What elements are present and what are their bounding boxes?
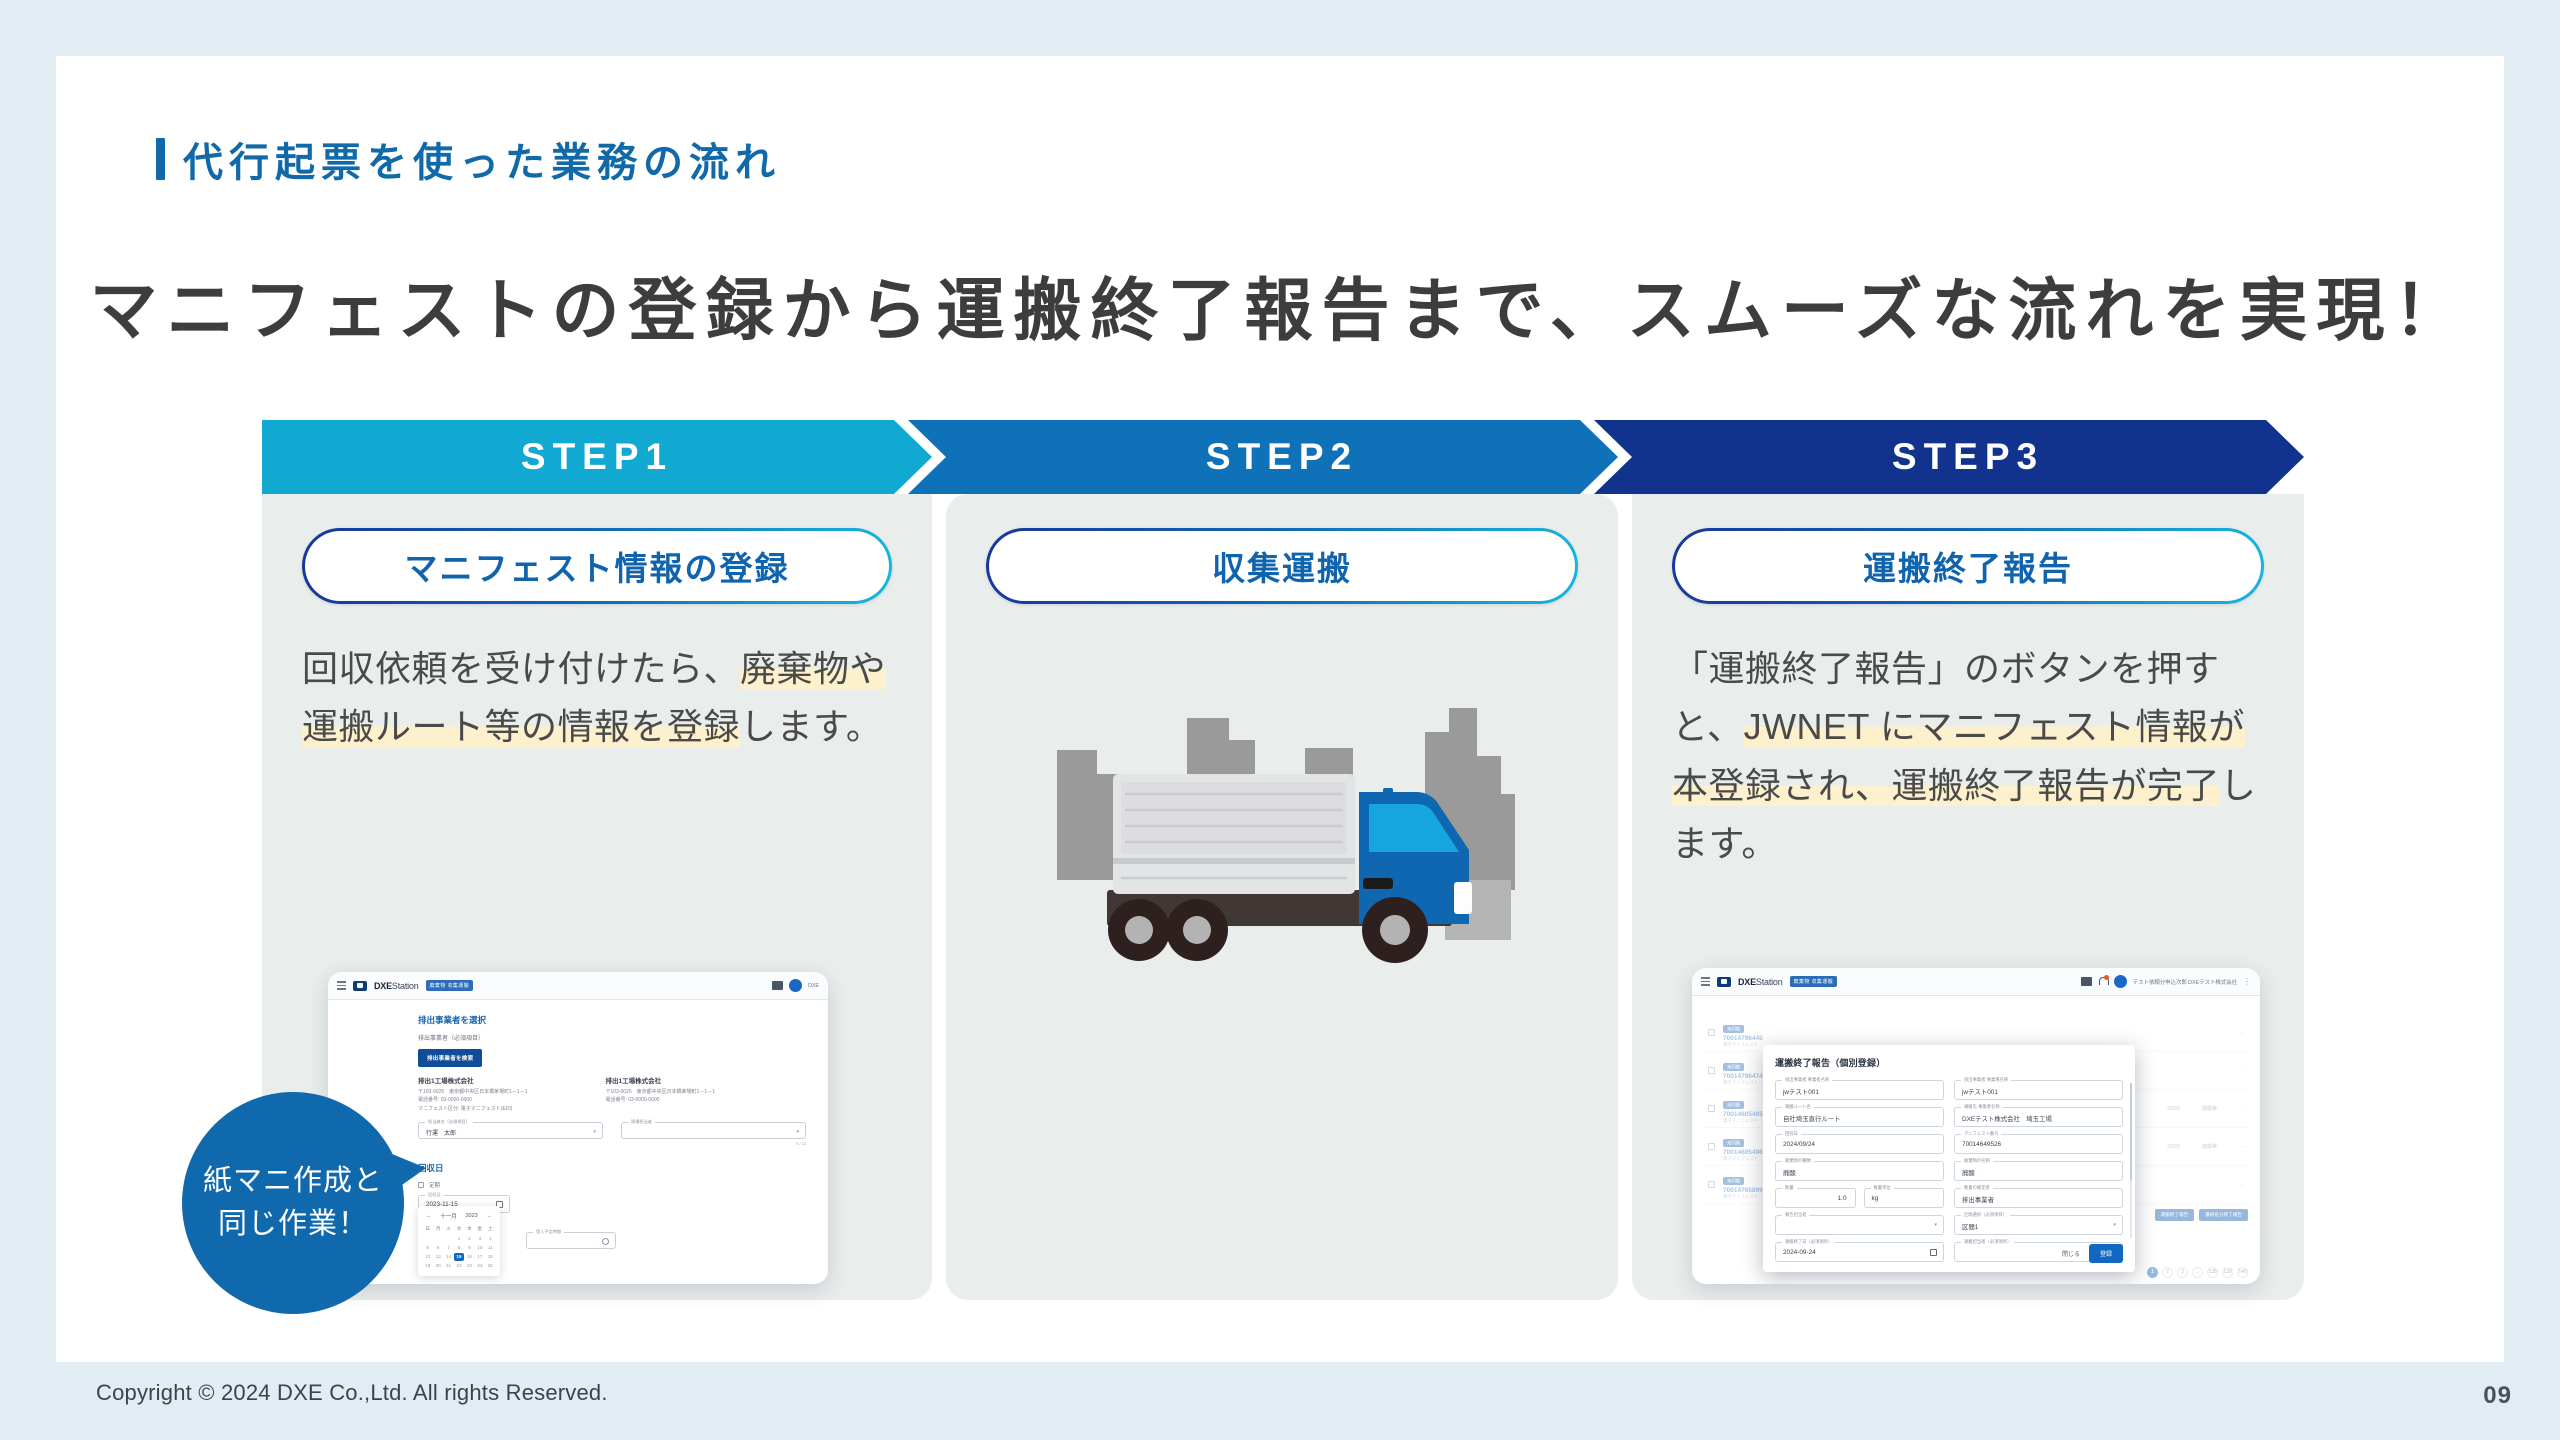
modal-unit-label: 数量単位 (1871, 1185, 1894, 1191)
modal-field[interactable]: マニフェスト番号70014649526 (1954, 1134, 2123, 1154)
modal-field-label: 運搬ルート名 (1782, 1104, 1814, 1110)
step-copy-1-plain-b: します。 (740, 706, 882, 747)
modal-qty-pair: 数量 1.0 数量単位 kg (1775, 1188, 1944, 1208)
modal-field[interactable]: 排出事業者 事業者名称jwテスト001 (1775, 1080, 1944, 1100)
step-copy-1-plain-a: 回収依頼を受け付けたら、 (302, 648, 740, 689)
checkbox-icon[interactable] (1708, 1181, 1715, 1188)
calendar-day (444, 1234, 453, 1242)
app-badge-1: 廃棄物 収集運搬 (426, 980, 474, 991)
modal-field-value: 自社埼玉直行ルート (1783, 1114, 1841, 1123)
calendar-day[interactable]: 24 (475, 1262, 484, 1270)
modal-field-confirmer[interactable]: 数量の確定者 排出事業者 (1954, 1188, 2123, 1208)
eyebrow-bar-icon (156, 138, 165, 180)
modal-field-label: 廃棄物の種類 (1782, 1158, 1814, 1164)
pagination-item[interactable]: … (2192, 1267, 2203, 1278)
calendar-day (433, 1234, 442, 1242)
calendar-prev-icon[interactable]: ← (426, 1213, 432, 1219)
bulk-action-button[interactable]: 運搬終了報告 (2155, 1209, 2195, 1221)
modal-field-value: 70014649526 (1962, 1141, 2001, 1148)
clock-icon (602, 1238, 609, 1245)
calendar-day[interactable]: 14 (444, 1253, 453, 1261)
step-pill-1[interactable]: マニフェスト情報の登録 (302, 528, 892, 604)
modal-field-unit[interactable]: 数量単位 kg (1864, 1188, 1945, 1208)
calendar-dow: 月 (433, 1224, 442, 1233)
calendar-day[interactable]: 20 (433, 1262, 442, 1270)
calendar-day[interactable]: 8 (454, 1243, 463, 1251)
shot1-field-site-label: 現場担当者 (628, 1119, 655, 1125)
step-pill-label-2: 収集運搬 (989, 531, 1575, 601)
calendar-day[interactable]: 17 (475, 1253, 484, 1261)
calendar-day[interactable]: 2 (465, 1234, 474, 1242)
calendar-day[interactable]: 21 (444, 1262, 453, 1270)
calendar-dow: 金 (475, 1224, 484, 1233)
pagination-item[interactable]: 3 (2177, 1267, 2188, 1278)
step-banner-2: STEP2 (908, 420, 1618, 494)
modal-end-value: 2024-09-24 (1783, 1249, 1816, 1256)
modal-end-label: 運搬終了日（必須項目） (1782, 1239, 1835, 1245)
calendar-dow: 土 (486, 1224, 495, 1233)
app-name-3: DXEStation (1738, 977, 1783, 987)
app-screenshot-step1: DXEStation 廃棄物 収集運搬 DXE 排出事業者を選択 排出事業者（必… (328, 972, 828, 1284)
modal-field[interactable]: 廃棄物の名称廃酸 (1954, 1161, 2123, 1181)
manifest-type: 電子マニフェスト (1723, 1118, 1763, 1124)
callout-line-2: 同じ作業！ (218, 1203, 368, 1247)
modal-field-value: 2024/09/24 (1783, 1141, 1815, 1148)
callout-line-1: 紙マニ作成と (203, 1160, 383, 1204)
calendar-day[interactable]: 4 (486, 1234, 495, 1242)
calendar-dow: 日 (423, 1224, 432, 1233)
calendar-day[interactable]: 11 (486, 1243, 495, 1251)
row-status: 廃酸等 (2202, 1143, 2217, 1150)
row-menu-icon[interactable]: ⋯ (2239, 1030, 2244, 1036)
kebab-menu-icon[interactable]: ⋮ (2243, 977, 2251, 986)
modal-qty-label: 数量 (1782, 1185, 1797, 1191)
manual-icon[interactable] (772, 981, 783, 990)
app-body-1: 排出事業者を選択 排出事業者（必須項目） 排出事業者を検索 排出1工場株式会社 … (328, 1000, 828, 1284)
modal-field-value: jwテスト001 (1783, 1087, 1819, 1096)
hamburger-icon[interactable] (337, 981, 346, 990)
callout-bubble: 紙マニ作成と 同じ作業！ (182, 1092, 404, 1314)
shot1-field-staff[interactable]: 担当者名（必須項目） 行運 太郎 ▾ (418, 1122, 603, 1139)
modal-field[interactable]: 廃棄物の種類廃酸 (1775, 1161, 1944, 1181)
chevron-down-icon: ▾ (796, 1129, 799, 1135)
shot1-date-label: 回収日 (425, 1192, 444, 1198)
modal-qty-value: 1.0 (1838, 1195, 1847, 1202)
shot1-field-site[interactable]: 現場担当者 ▾ (621, 1122, 806, 1139)
shot1-corp-left-lines: 〒103-0025 東京都中央区日本橋茅場町1－1－1 電話番号: 03-000… (418, 1088, 527, 1113)
shot1-corp-left: 排出1工場株式会社 〒103-0025 東京都中央区日本橋茅場町1－1－1 電話… (418, 1075, 527, 1113)
shot1-field-staff-value: 行運 太郎 (426, 1128, 456, 1137)
shot1-time-field[interactable]: 受入予定時間 (526, 1232, 616, 1249)
section-eyebrow: 代行起票を使った業務の流れ (156, 130, 781, 188)
shot1-calendar-popup[interactable]: ← 十一月 2023 → 日月火水木金土12345678910111213141… (418, 1206, 500, 1276)
modal-title: 運搬終了報告（個別登録） (1775, 1056, 2123, 1069)
modal-close-button[interactable]: 閉じる (2062, 1249, 2080, 1258)
shot1-section-title-2: 回収日 (418, 1162, 828, 1174)
shot1-sub-label: 排出事業者（必須項目） (418, 1033, 828, 1042)
avatar[interactable] (789, 979, 802, 992)
dxe-logo-icon (1717, 977, 1731, 987)
modal-driver-label: 運搬担当者（必須項目） (1961, 1239, 2014, 1245)
page-title: マニフェストの登録から運搬終了報告まで、スムーズな流れを実現！ (0, 255, 2560, 354)
pagination-item[interactable]: 1 (2147, 1267, 2158, 1278)
pagination-item[interactable]: 140 (2237, 1267, 2248, 1278)
calendar-day[interactable]: 18 (486, 1253, 495, 1261)
pagination-item[interactable]: 2 (2162, 1267, 2173, 1278)
step-copy-3-highlight: JWNET にマニフェスト情報が本登録され、運搬終了報告が完了 (1672, 706, 2245, 805)
checkbox-icon[interactable] (1708, 1143, 1715, 1150)
status-badge: 未同期 (1723, 1177, 1744, 1185)
row-date: 09/23 (2167, 1106, 2180, 1112)
app-header-3: DXEStation 廃棄物 収集運搬 テスト依頼分申込次郎 DXEテスト株式会… (1692, 968, 2260, 996)
shot1-checkbox-label: 定期 (429, 1181, 440, 1189)
calendar-day[interactable]: 5 (423, 1243, 432, 1251)
step-pill-3[interactable]: 運搬終了報告 (1672, 528, 2264, 604)
modal-area-value: 区間1 (1962, 1222, 1978, 1231)
status-badge: 未同期 (1723, 1063, 1744, 1071)
manifest-type: 電子マニフェスト (1723, 1042, 1763, 1048)
modal-area-label: 区間選択（必須項目） (1961, 1212, 2010, 1218)
shot1-corp-right-name: 排出1工場株式会社 (605, 1075, 714, 1085)
modal-actions: 閉じる 登録 (2062, 1244, 2123, 1263)
calendar-day[interactable]: 15 (454, 1253, 463, 1261)
calendar-day[interactable]: 12 (423, 1253, 432, 1261)
garbage-truck-icon (1047, 682, 1517, 1012)
manifest-type: 電子マニフェスト (1723, 1194, 1763, 1200)
modal-field-staff[interactable]: 報告担当者 ▾ (1775, 1215, 1944, 1235)
shot1-corp-right: 排出1工場株式会社 〒103-0025 東京都中央区日本橋茅場町1－1－1 電話… (605, 1075, 714, 1113)
modal-field-label: 排出事業者 事業場名称 (1961, 1077, 2011, 1083)
modal-field-label: 運搬先 事業者名称 (1961, 1104, 2003, 1110)
chevron-down-icon: ▾ (1935, 1222, 1938, 1228)
step-banner-label-1: STEP1 (521, 436, 673, 478)
shot1-field-staff-label: 担当者名（必須項目） (425, 1119, 473, 1125)
avatar[interactable] (2114, 975, 2127, 988)
calendar-day[interactable]: 23 (465, 1262, 474, 1270)
modal-field-qty[interactable]: 数量 1.0 (1775, 1188, 1856, 1208)
step-banner-label-3: STEP3 (1892, 436, 2044, 478)
status-badge: 未同期 (1723, 1101, 1744, 1109)
page-number: 09 (2483, 1382, 2512, 1410)
modal-register-button[interactable]: 登録 (2089, 1244, 2123, 1263)
modal-field[interactable]: 運搬先 事業者名称DXEテスト株式会社 埼玉工場 (1954, 1107, 2123, 1127)
manual-icon[interactable] (2081, 977, 2092, 986)
calendar-day[interactable]: 9 (465, 1243, 474, 1251)
dxe-logo-icon (353, 981, 367, 991)
calendar-next-icon[interactable]: → (486, 1213, 492, 1219)
calendar-day[interactable]: 7 (444, 1243, 453, 1251)
step-pill-label-3: 運搬終了報告 (1675, 531, 2261, 601)
modal-field-value: 廃酸 (1783, 1168, 1796, 1177)
chevron-down-icon: ▾ (593, 1129, 596, 1135)
modal-field[interactable]: 回収日2024/09/24 (1775, 1134, 1944, 1154)
bell-icon[interactable] (2098, 976, 2108, 987)
shot1-helper: 0 / 12 (328, 1141, 806, 1146)
pagination-item[interactable]: 139 (2222, 1267, 2233, 1278)
status-badge: 未同期 (1723, 1139, 1744, 1147)
shot1-section-title: 排出事業者を選択 (418, 1014, 828, 1026)
modal-field-value: 廃酸 (1962, 1168, 1975, 1177)
step-banner-1: STEP1 (262, 420, 932, 494)
calendar-icon[interactable] (1930, 1249, 1937, 1256)
step-copy-3: 「運搬終了報告」のボタンを押すと、JWNET にマニフェスト情報が本登録され、運… (1672, 640, 2264, 873)
step-pill-2[interactable]: 収集運搬 (986, 528, 1578, 604)
shot1-time-label: 受入予定時間 (533, 1229, 564, 1235)
modal-field-label: 廃棄物の名称 (1961, 1158, 1993, 1164)
step-panel-2: 収集運搬 (946, 494, 1618, 1300)
calendar-day[interactable]: 19 (423, 1262, 432, 1270)
calendar-dow: 火 (444, 1224, 453, 1233)
modal-field-grid: 排出事業者 事業者名称jwテスト001排出事業者 事業場名称jwテスト001運搬… (1775, 1080, 2123, 1181)
calendar-month: 十一月 (440, 1212, 457, 1220)
truck-illustration (946, 682, 1618, 1012)
app-body-3: 未同期70014796445電子マニフェスト⋯未同期70014796474電子マ… (1692, 996, 2260, 1284)
app-header-right-1: DXE (772, 979, 819, 992)
calendar-day[interactable]: 16 (465, 1253, 474, 1261)
shot1-calendar-header: ← 十一月 2023 → (423, 1212, 495, 1224)
calendar-day (423, 1234, 432, 1242)
row-menu-icon[interactable]: ⋯ (2239, 1144, 2244, 1150)
shot1-corp-columns: 排出1工場株式会社 〒103-0025 東京都中央区日本橋茅場町1－1－1 電話… (418, 1075, 828, 1113)
modal-field[interactable]: 排出事業者 事業場名称jwテスト001 (1954, 1080, 2123, 1100)
row-status: 廃酸等 (2202, 1105, 2217, 1112)
manifest-type: 電子マニフェスト (1723, 1080, 1763, 1086)
bulk-action-buttons[interactable]: 運搬終了報告最終処分終了報告 (2155, 1209, 2248, 1221)
shot1-checkbox-regular[interactable]: 定期 (418, 1181, 828, 1189)
calendar-dow: 木 (465, 1224, 474, 1233)
modal-field-value: jwテスト001 (1962, 1087, 1998, 1096)
step-banner-3: STEP3 (1594, 420, 2304, 494)
step-copy-1: 回収依頼を受け付けたら、廃棄物や運搬ルート等の情報を登録します。 (302, 640, 892, 757)
calendar-day[interactable]: 22 (454, 1262, 463, 1270)
modal-field-end-date[interactable]: 運搬終了日（必須項目） 2024-09-24 (1775, 1242, 1944, 1262)
modal-field-label: 回収日 (1782, 1131, 1801, 1137)
calendar-day[interactable]: 25 (486, 1262, 495, 1270)
modal-field-value: DXEテスト株式会社 埼玉工場 (1962, 1114, 2052, 1123)
step-column-2: STEP2 収集運搬 (946, 420, 1618, 1300)
bulk-action-button[interactable]: 最終処分終了報告 (2199, 1209, 2248, 1221)
calendar-year: 2023 (465, 1213, 477, 1219)
modal-unit-value: kg (1872, 1195, 1879, 1202)
user-name-3: テスト依頼分申込次郎 DXEテスト株式会社 (2133, 978, 2237, 986)
pagination[interactable]: 123…138139140 (2147, 1267, 2248, 1278)
footer-copyright: Copyright © 2024 DXE Co.,Ltd. All rights… (96, 1380, 608, 1406)
pagination-item[interactable]: 138 (2207, 1267, 2218, 1278)
app-header-right-3: テスト依頼分申込次郎 DXEテスト株式会社 ⋮ (2081, 975, 2251, 988)
modal-confirmer-label: 数量の確定者 (1961, 1185, 1993, 1191)
shot1-corp-right-lines: 〒103-0025 東京都中央区日本橋茅場町1－1－1 電話番号: 03-000… (605, 1088, 714, 1105)
shot1-corp-left-name: 排出1工場株式会社 (418, 1075, 527, 1085)
modal-field-label: マニフェスト番号 (1961, 1131, 2001, 1137)
calendar-day[interactable]: 3 (475, 1234, 484, 1242)
calendar-day[interactable]: 1 (454, 1234, 463, 1242)
calendar-day[interactable]: 6 (433, 1243, 442, 1251)
modal-scrollbar[interactable] (2130, 1083, 2133, 1238)
modal-field-label: 排出事業者 事業者名称 (1782, 1077, 1832, 1083)
shot1-search-button[interactable]: 排出事業者を検索 (418, 1049, 482, 1067)
user-name-1: DXE (808, 983, 819, 989)
status-badge: 未同期 (1723, 1025, 1744, 1033)
app-name-1: DXEStation (374, 981, 419, 991)
row-menu-icon[interactable]: ⋯ (2239, 1106, 2244, 1112)
app-header-1: DXEStation 廃棄物 収集運搬 DXE (328, 972, 828, 1000)
transport-complete-modal: 運搬終了報告（個別登録） 排出事業者 事業者名称jwテスト001排出事業者 事業… (1763, 1045, 2135, 1272)
calendar-day[interactable]: 13 (433, 1253, 442, 1261)
modal-field-area[interactable]: 区間選択（必須項目） 区間1 ▾ (1954, 1215, 2123, 1235)
row-menu-icon[interactable]: ⋯ (2239, 1068, 2244, 1074)
checkbox-icon[interactable] (1708, 1105, 1715, 1112)
checkbox-icon[interactable] (1708, 1029, 1715, 1036)
checkbox-icon[interactable] (1708, 1067, 1715, 1074)
eyebrow-label: 代行起票を使った業務の流れ (183, 130, 781, 188)
modal-confirmer-value: 排出事業者 (1962, 1195, 1994, 1204)
shot1-field-row: 担当者名（必須項目） 行運 太郎 ▾ 現場担当者 ▾ (418, 1122, 806, 1139)
manifest-type: 電子マニフェスト (1723, 1156, 1763, 1162)
app-badge-3: 廃棄物 収集運搬 (1790, 976, 1838, 987)
modal-field[interactable]: 運搬ルート名自社埼玉直行ルート (1775, 1107, 1944, 1127)
modal-staff-label: 報告担当者 (1782, 1212, 1809, 1218)
step-pill-label-1: マニフェスト情報の登録 (305, 531, 889, 601)
row-menu-icon[interactable]: ⋯ (2239, 1182, 2244, 1188)
hamburger-icon[interactable] (1701, 977, 1710, 986)
shot1-calendar-grid[interactable]: 日月火水木金土123456789101112131415161718192021… (423, 1224, 495, 1270)
row-date: 09/23 (2167, 1144, 2180, 1150)
step-banner-label-2: STEP2 (1206, 436, 1358, 478)
calendar-day[interactable]: 10 (475, 1243, 484, 1251)
calendar-dow: 水 (454, 1224, 463, 1233)
app-screenshot-step3: DXEStation 廃棄物 収集運搬 テスト依頼分申込次郎 DXEテスト株式会… (1692, 968, 2260, 1284)
chevron-down-icon: ▾ (2114, 1222, 2117, 1228)
